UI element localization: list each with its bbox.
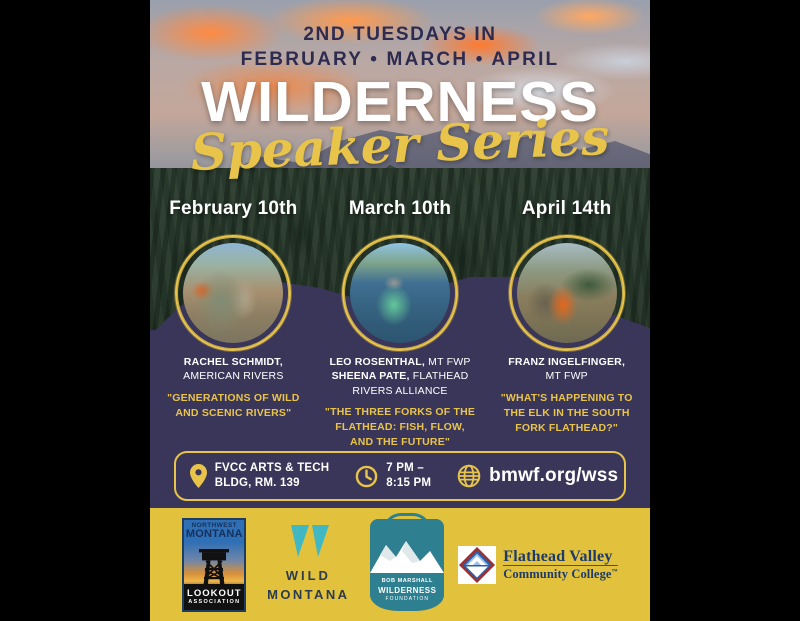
bmwf-line-2: WILDERNESS [370,586,444,596]
speaker-photo-cell [150,235,317,351]
lookout-line-3: LOOKOUT [187,588,242,599]
flathead-valley-community-college-logo: Flathead Valley Community College™ [458,546,617,584]
photo-ring-icon [331,224,469,362]
screenshot-stage: 2ND TUESDAYS IN FEBRUARY • MARCH • APRIL… [0,0,800,621]
speaker-photo-cell [317,235,484,351]
sponsor-logos-footer: NORTHWEST MONTANA LOOKOUT ASSOCIATION WI… [150,508,650,621]
location-line-2: BLDG, RM. 139 [215,476,330,491]
lookout-top-text: NORTHWEST MONTANA [184,520,244,541]
speaker-details-row: RACHEL SCHMIDT,AMERICAN RIVERS "GENERATI… [150,355,650,450]
talk-title: "GENERATIONS OF WILD AND SCENIC RIVERS" [158,391,309,421]
talk-title: "THE THREE FORKS OF THE FLATHEAD: FISH, … [325,405,476,450]
speaker-name: LEO ROSENTHAL, MT FWPSHEENA PATE, FLATHE… [325,355,476,398]
bmwf-line-1: BOB MARSHALL [370,578,444,585]
wild-montana-line-2: MONTANA [260,586,356,605]
map-pin-icon [190,464,207,488]
poster-kicker: 2ND TUESDAYS IN FEBRUARY • MARCH • APRIL [150,22,650,72]
lookout-bottom-text: LOOKOUT ASSOCIATION [184,584,244,610]
website-info[interactable]: bmwf.org/wss [431,464,618,488]
speaker-detail: RACHEL SCHMIDT,AMERICAN RIVERS "GENERATI… [150,355,317,450]
clock-icon [355,465,378,488]
session-date: March 10th [317,198,484,220]
fvcc-line-1: Flathead Valley [503,548,617,566]
fvcc-diamond-icon [458,546,496,584]
event-info-bar: FVCC ARTS & TECH BLDG, RM. 139 7 PM – 8:… [174,451,626,501]
photo-ring-icon [497,224,635,362]
time-text: 7 PM – 8:15 PM [386,461,431,491]
location-line-1: FVCC ARTS & TECH [215,461,330,476]
bmwf-line-3: FOUNDATION [370,596,444,604]
talk-title: "WHAT'S HAPPENING TO THE ELK IN THE SOUT… [491,391,642,436]
wild-montana-line-1: WILD [260,567,356,586]
session-date: February 10th [150,198,317,220]
fvcc-line-2: Community College™ [503,565,617,581]
speaker-photo-cell [483,235,650,351]
bmwf-text: BOB MARSHALL WILDERNESS FOUNDATION [370,578,444,603]
website-url[interactable]: bmwf.org/wss [489,465,618,487]
speaker-detail: FRANZ INGELFINGER,MT FWP "WHAT'S HAPPENI… [483,355,650,450]
speaker-photos-row [150,235,650,351]
session-date: April 14th [483,198,650,220]
bmwf-badge-shape: BOB MARSHALL WILDERNESS FOUNDATION [370,519,444,611]
time-line-2: 8:15 PM [386,476,431,491]
fvcc-text: Flathead Valley Community College™ [503,548,617,582]
location-text: FVCC ARTS & TECH BLDG, RM. 139 [215,461,330,491]
speaker-name: RACHEL SCHMIDT,AMERICAN RIVERS [158,355,309,384]
event-poster: 2ND TUESDAYS IN FEBRUARY • MARCH • APRIL… [150,0,650,621]
globe-icon [457,464,481,488]
northwest-montana-lookout-association-logo: NORTHWEST MONTANA LOOKOUT ASSOCIATION [182,518,246,612]
location-info: FVCC ARTS & TECH BLDG, RM. 139 [182,461,330,491]
wild-montana-mark-icon [285,524,331,558]
kicker-line-2: FEBRUARY • MARCH • APRIL [150,47,650,72]
kicker-line-1: 2ND TUESDAYS IN [150,22,650,47]
speaker-name: FRANZ INGELFINGER,MT FWP [491,355,642,384]
photo-ring-icon [164,224,302,362]
lookout-line-4: ASSOCIATION [188,599,240,605]
speaker-detail: LEO ROSENTHAL, MT FWPSHEENA PATE, FLATHE… [317,355,484,450]
session-dates-row: February 10th March 10th April 14th [150,198,650,220]
lookout-line-2: MONTANA [184,529,244,540]
mountain-peaks-icon [370,535,444,573]
bob-marshall-wilderness-foundation-logo: BOB MARSHALL WILDERNESS FOUNDATION [370,519,444,611]
time-info: 7 PM – 8:15 PM [329,461,431,491]
wild-montana-logo: WILD MONTANA [260,524,356,605]
time-line-1: 7 PM – [386,461,431,476]
